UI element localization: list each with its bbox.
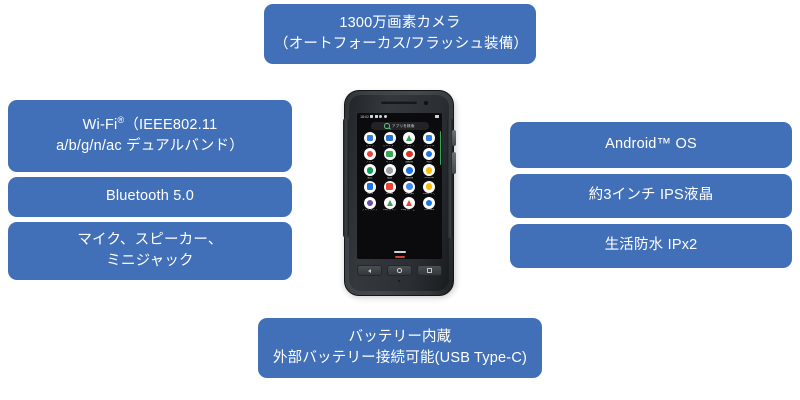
hardware-nav-bar [357, 264, 442, 277]
dock-handle [394, 251, 406, 253]
battery-icon [435, 115, 439, 118]
home-circle-icon [397, 268, 401, 272]
app-label: 設定 [367, 177, 372, 180]
app-item[interactable]: マップ [381, 148, 399, 163]
app-glyph [386, 151, 393, 158]
app-glyph [406, 135, 412, 141]
app-item[interactable]: 時計 [420, 148, 438, 163]
app-label: YouTube [424, 209, 435, 212]
app-glyph [406, 151, 413, 158]
device-power-button [452, 152, 456, 174]
diagram-canvas: 1300万画素カメラ （オートフォーカス/フラッシュ装備） Wi-Fi®（IEE… [0, 0, 800, 400]
app-glyph [386, 183, 393, 190]
photos-icon [364, 148, 376, 160]
chrome-icon [423, 164, 435, 176]
app-glyph [426, 151, 433, 158]
app-item[interactable]: Keep メモ [420, 181, 438, 196]
feature-label-display: 約3インチ IPS液晶 [589, 185, 714, 206]
feature-label-bluetooth: Bluetooth 5.0 [106, 186, 194, 207]
files-icon [423, 132, 435, 144]
app-label: Play ストア [383, 209, 397, 212]
alarm-icon [384, 115, 387, 118]
calendar-icon [384, 132, 396, 144]
app-label: Google [405, 193, 414, 196]
messages-icon [364, 181, 376, 193]
movies-icon [403, 197, 415, 209]
app-glyph [426, 183, 433, 190]
app-label: Gmail [386, 193, 393, 196]
clock-icon [423, 148, 435, 160]
feature-label-waterproof: 生活防水 IPx2 [605, 235, 698, 256]
front-camera-icon [424, 101, 428, 105]
phone-icon [384, 164, 396, 176]
app-glyph [406, 183, 413, 190]
device-volume-button [452, 130, 456, 146]
people-icon [403, 164, 415, 176]
wifi-text-part1: Wi-Fi [83, 117, 118, 133]
search-placeholder: アプリを検索 [392, 124, 415, 129]
app-item[interactable]: 電話 [381, 164, 399, 179]
keep-icon [423, 181, 435, 193]
app-grid: カメラカレンダードライブファイルフォトマップ連絡先時計設定電話連絡帳Chrome… [357, 131, 442, 212]
app-label: マップ [386, 161, 394, 164]
app-item[interactable]: 設定 [361, 164, 379, 179]
app-glyph [367, 183, 374, 190]
earpiece-speaker [381, 101, 417, 104]
feature-label-battery: バッテリー内蔵 外部バッテリー接続可能(USB Type-C) [273, 327, 527, 369]
app-glyph [386, 135, 393, 142]
app-item[interactable]: プレイストア [361, 197, 379, 212]
app-item[interactable]: Google [401, 181, 419, 196]
app-item[interactable]: SMS [361, 181, 379, 196]
app-glyph [367, 200, 374, 207]
feature-box-display: 約3インチ IPS液晶 [510, 174, 792, 218]
dock-accent [395, 256, 405, 258]
app-glyph [367, 167, 374, 174]
app-item[interactable]: 連絡先 [401, 148, 419, 163]
app-item[interactable]: カメラ [361, 132, 379, 147]
home-key[interactable] [387, 265, 412, 276]
recents-key[interactable] [417, 265, 442, 276]
feature-label-wifi: Wi-Fi®（IEEE802.11 a/b/g/n/ac デュアルバンド） [56, 115, 244, 157]
device-screen: 18:02 アプリを検索 カメラカレンダードライブファイルフォトマップ連絡先時計… [357, 113, 442, 259]
feature-box-battery: バッテリー内蔵 外部バッテリー接続可能(USB Type-C) [258, 318, 542, 378]
app-item[interactable]: フォト [361, 148, 379, 163]
app-glyph [426, 167, 433, 174]
app-glyph [426, 200, 433, 207]
app-label: ファイル [424, 145, 435, 148]
app-item[interactable]: Play ストア [381, 197, 399, 212]
feature-label-camera: 1300万画素カメラ （オートフォーカス/フラッシュ装備） [274, 13, 526, 55]
google-icon [403, 181, 415, 193]
app-glyph [367, 151, 374, 158]
search-icon [384, 123, 390, 129]
app-label: カメラ [366, 145, 374, 148]
app-label: 時計 [426, 161, 431, 164]
feature-box-audio: マイク、スピーカー、 ミニジャック [8, 222, 292, 280]
feature-label-os: Android™ OS [605, 134, 697, 155]
status-bar: 18:02 [357, 113, 442, 120]
app-item[interactable]: ファイル [420, 132, 438, 147]
settings-icon [364, 164, 376, 176]
app-item[interactable]: YouTube [420, 197, 438, 212]
maps-icon [384, 148, 396, 160]
app-search-bar[interactable]: アプリを検索 [371, 122, 429, 130]
app-glyph [387, 200, 393, 206]
app-label: 連絡帳 [405, 177, 413, 180]
device-photo: 18:02 アプリを検索 カメラカレンダードライブファイルフォトマップ連絡先時計… [338, 88, 462, 300]
feature-box-camera: 1300万画素カメラ （オートフォーカス/フラッシュ装備） [264, 4, 536, 64]
app-glyph [426, 135, 433, 142]
back-triangle-icon [368, 269, 371, 273]
app-label: 連絡先 [405, 161, 413, 164]
app-label: Keep メモ [423, 193, 435, 196]
feature-box-wifi: Wi-Fi®（IEEE802.11 a/b/g/n/ac デュアルバンド） [8, 100, 292, 172]
app-item[interactable]: Gmail [381, 181, 399, 196]
app-glyph [367, 135, 374, 142]
status-bar-right [435, 115, 439, 118]
app-item[interactable]: Chrome [420, 164, 438, 179]
app-label: カレンダー [383, 145, 396, 148]
device-grip-left [343, 118, 349, 238]
feature-box-waterproof: 生活防水 IPx2 [510, 224, 792, 268]
youtube-icon [423, 197, 435, 209]
play-icon [384, 197, 396, 209]
microphone-hole-icon [398, 280, 400, 282]
app-label: ドライブ [404, 145, 415, 148]
app-glyph [386, 167, 393, 174]
playstore-icon [364, 197, 376, 209]
status-bar-left: 18:02 [360, 115, 387, 119]
scroll-indicator[interactable] [440, 131, 441, 165]
back-key[interactable] [357, 265, 382, 276]
app-label: SMS [367, 193, 373, 196]
recents-square-icon [427, 268, 431, 272]
drive-icon [403, 132, 415, 144]
app-label: 電話 [387, 177, 392, 180]
signal-icon [370, 115, 373, 118]
app-label: プレイストア [362, 209, 378, 212]
feature-box-os: Android™ OS [510, 122, 792, 168]
feature-label-audio: マイク、スピーカー、 ミニジャック [77, 230, 222, 272]
gmail-icon [384, 181, 396, 193]
app-label: Chrome [424, 177, 434, 180]
status-time: 18:02 [360, 115, 369, 119]
contacts-icon [403, 148, 415, 160]
app-label: Play ムービー [401, 209, 418, 212]
wifi-icon [375, 115, 378, 118]
app-item[interactable]: カレンダー [381, 132, 399, 147]
feature-box-bluetooth: Bluetooth 5.0 [8, 177, 292, 217]
app-item[interactable]: Play ムービー [401, 197, 419, 212]
app-item[interactable]: 連絡帳 [401, 164, 419, 179]
app-item[interactable]: ドライブ [401, 132, 419, 147]
app-glyph [406, 200, 412, 206]
app-label: フォト [366, 161, 374, 164]
bluetooth-icon [379, 115, 382, 118]
camera-icon [364, 132, 376, 144]
app-glyph [406, 167, 413, 174]
